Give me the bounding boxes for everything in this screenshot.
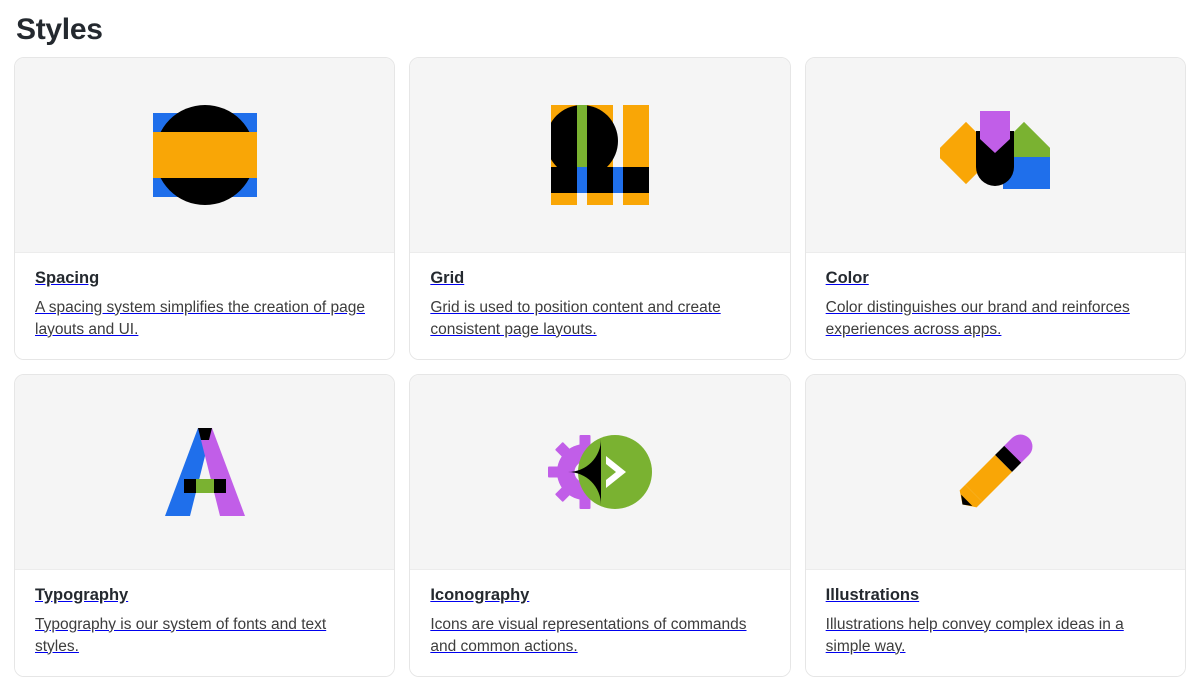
card-description: Illustrations help convey complex ideas … [826,614,1165,658]
card-body-typography: Typography Typography is our system of f… [15,570,394,676]
style-card-typography[interactable]: Typography Typography is our system of f… [14,374,395,677]
card-title: Illustrations [826,586,1165,606]
card-description: Grid is used to position content and cre… [430,297,769,341]
card-body-color: Color Color distinguishes our brand and … [806,253,1185,359]
card-body-iconography: Iconography Icons are visual representat… [410,570,789,676]
illustrations-illustration-icon [945,422,1045,522]
style-card-color[interactable]: Color Color distinguishes our brand and … [805,57,1186,360]
card-title: Typography [35,586,374,606]
card-body-illustrations: Illustrations Illustrations help convey … [806,570,1185,676]
card-title: Spacing [35,269,374,289]
styles-card-grid: Spacing A spacing system simplifies the … [14,57,1186,677]
card-title: Iconography [430,586,769,606]
card-media-iconography [410,375,789,570]
styles-page: Styles Spacing A spacing system simplifi… [0,0,1200,696]
card-description: Typography is our system of fonts and te… [35,614,374,658]
card-media-typography [15,375,394,570]
card-media-color [806,58,1185,253]
card-description: Icons are visual representations of comm… [430,614,769,658]
style-card-spacing[interactable]: Spacing A spacing system simplifies the … [14,57,395,360]
style-card-illustrations[interactable]: Illustrations Illustrations help convey … [805,374,1186,677]
style-card-grid[interactable]: Grid Grid is used to position content an… [409,57,790,360]
card-title: Color [826,269,1165,289]
spacing-illustration-icon [153,105,257,205]
card-body-spacing: Spacing A spacing system simplifies the … [15,253,394,359]
style-card-iconography[interactable]: Iconography Icons are visual representat… [409,374,790,677]
typography-illustration-icon [165,428,245,516]
card-media-spacing [15,58,394,253]
card-description: Color distinguishes our brand and reinfo… [826,297,1165,341]
grid-illustration-icon [551,105,649,205]
card-description: A spacing system simplifies the creation… [35,297,374,341]
card-title: Grid [430,269,769,289]
card-media-grid [410,58,789,253]
card-body-grid: Grid Grid is used to position content an… [410,253,789,359]
color-illustration-icon [940,109,1050,201]
card-media-illustrations [806,375,1185,570]
page-title: Styles [14,8,1186,52]
iconography-illustration-icon [548,435,652,509]
